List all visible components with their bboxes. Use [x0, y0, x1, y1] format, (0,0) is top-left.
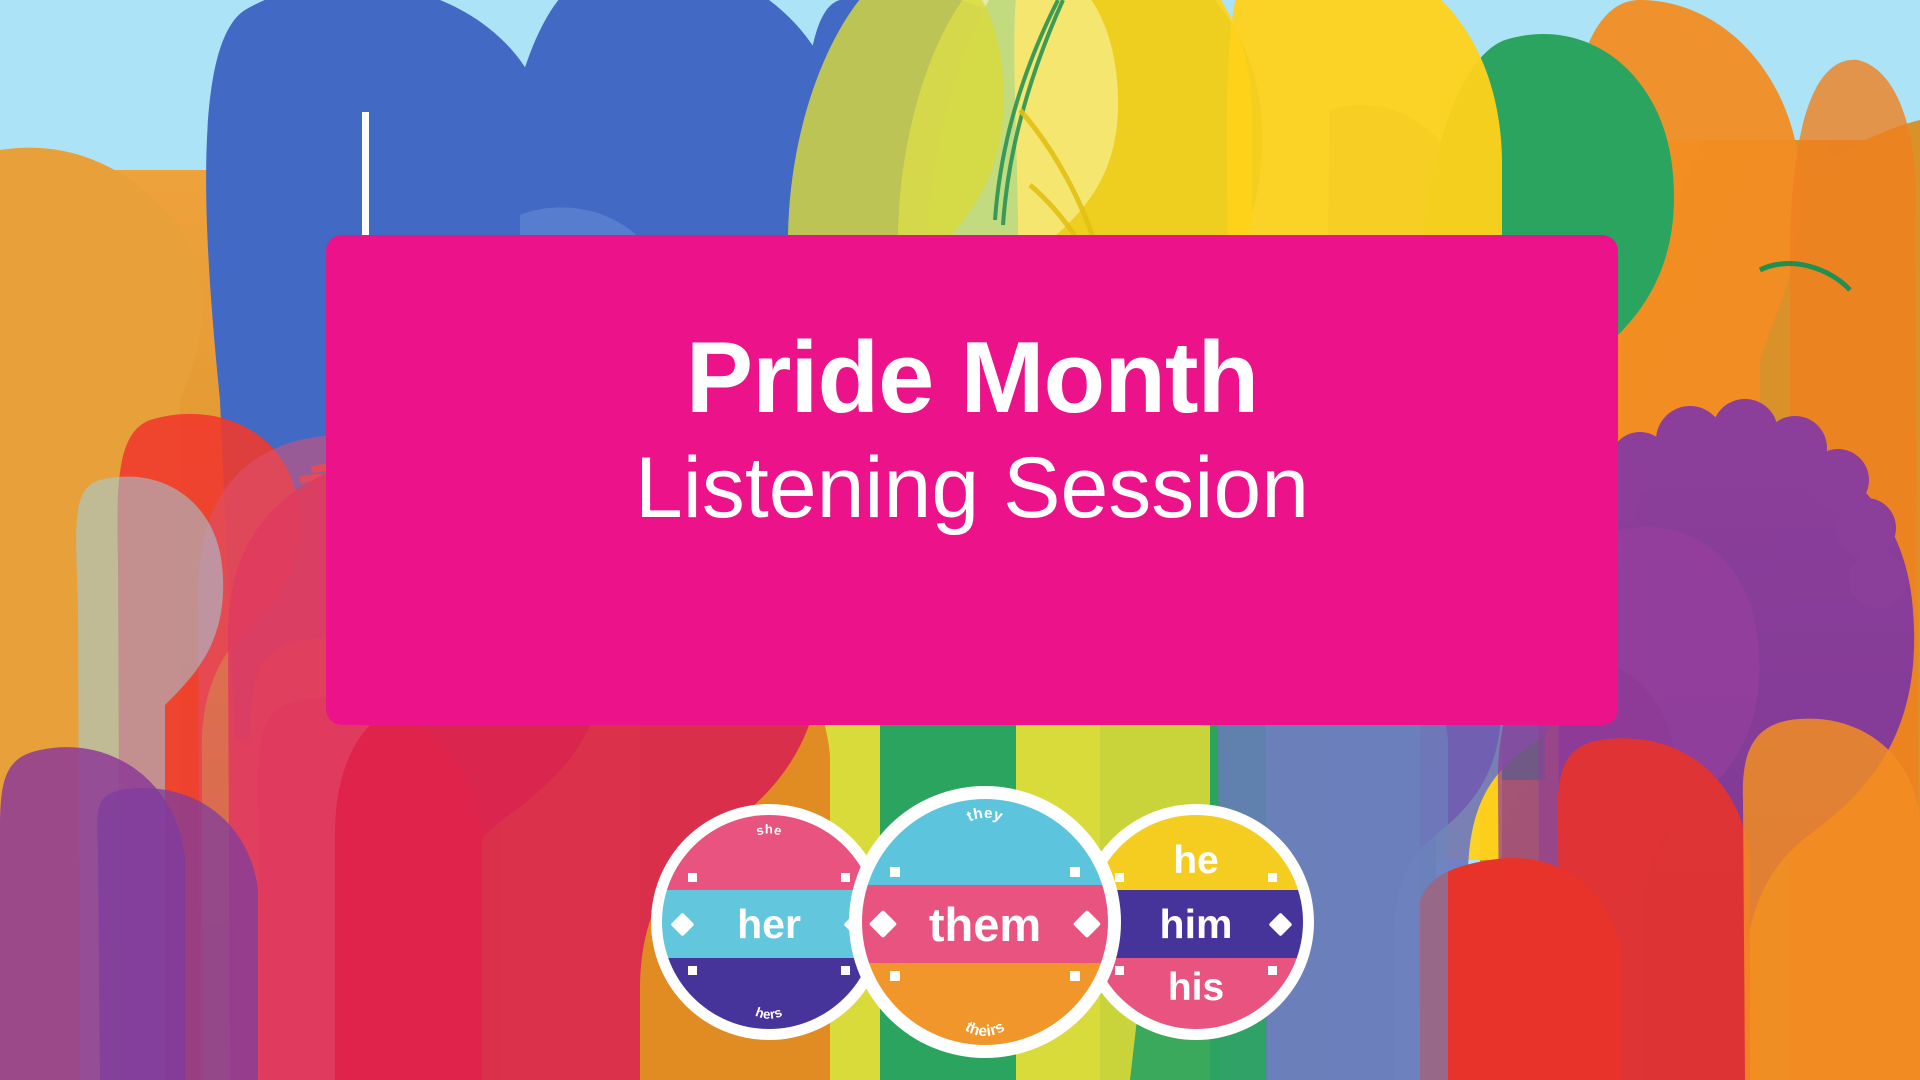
badge-she-tick-bl	[688, 966, 697, 975]
pride-month-banner: Pride Month Listening Session she	[0, 0, 1920, 1080]
badge-he-band-he: he	[1089, 815, 1303, 890]
badge-they-band-they: they	[862, 799, 1108, 885]
badge-he-text-his: his	[1168, 968, 1224, 1007]
pronoun-badge-they[interactable]: they them theirs	[849, 786, 1121, 1058]
badge-she-text-she: she	[754, 822, 783, 839]
page-title: Pride Month	[686, 327, 1259, 430]
badge-she-tick-left	[688, 873, 697, 882]
svg-text:theirs: theirs	[962, 1018, 1007, 1040]
page-subtitle: Listening Session	[635, 438, 1309, 539]
badge-he-diamond-right	[1268, 913, 1292, 937]
badge-she-band-she: she	[662, 815, 876, 890]
badge-she-inner: she her hers	[662, 815, 876, 1029]
badge-they-tick-left	[890, 867, 900, 877]
badge-she-tick-br	[841, 966, 850, 975]
badge-he-text-him: him	[1160, 904, 1233, 945]
badge-they-diamond-left	[869, 910, 897, 938]
badge-he-tick-bl	[1115, 966, 1124, 975]
badge-they-text-they: they	[964, 805, 1005, 826]
badge-he-inner: he him his	[1089, 815, 1303, 1029]
badge-she-band-hers: hers	[662, 958, 876, 1029]
badge-he-tick-br	[1268, 966, 1277, 975]
badge-they-tick-br	[1070, 971, 1080, 981]
badge-he-band-him: him	[1089, 890, 1303, 958]
badge-they-band-them: them	[862, 885, 1108, 963]
badge-they-inner: they them theirs	[862, 799, 1108, 1045]
badge-she-text-her: her	[737, 904, 801, 945]
badge-she-tick-right	[841, 873, 850, 882]
svg-text:she: she	[754, 822, 783, 839]
badge-she-text-hers: hers	[754, 1004, 785, 1022]
svg-text:they: they	[964, 805, 1005, 826]
badge-they-diamond-right	[1073, 910, 1101, 938]
badge-they-text-them: them	[929, 901, 1041, 948]
badge-they-text-theirs: theirs	[962, 1018, 1007, 1040]
title-card: Pride Month Listening Session	[326, 235, 1618, 725]
badge-they-tick-bl	[890, 971, 900, 981]
badge-they-tick-right	[1070, 867, 1080, 877]
badge-he-band-his: his	[1089, 958, 1303, 1029]
badge-she-diamond-left	[670, 913, 694, 937]
badge-he-text-he: he	[1173, 841, 1219, 880]
badge-he-tick-right	[1268, 873, 1277, 882]
badge-they-band-theirs: theirs	[862, 963, 1108, 1045]
badge-she-band-her: her	[662, 890, 876, 958]
badge-he-tick-left	[1115, 873, 1124, 882]
svg-text:hers: hers	[754, 1004, 785, 1022]
